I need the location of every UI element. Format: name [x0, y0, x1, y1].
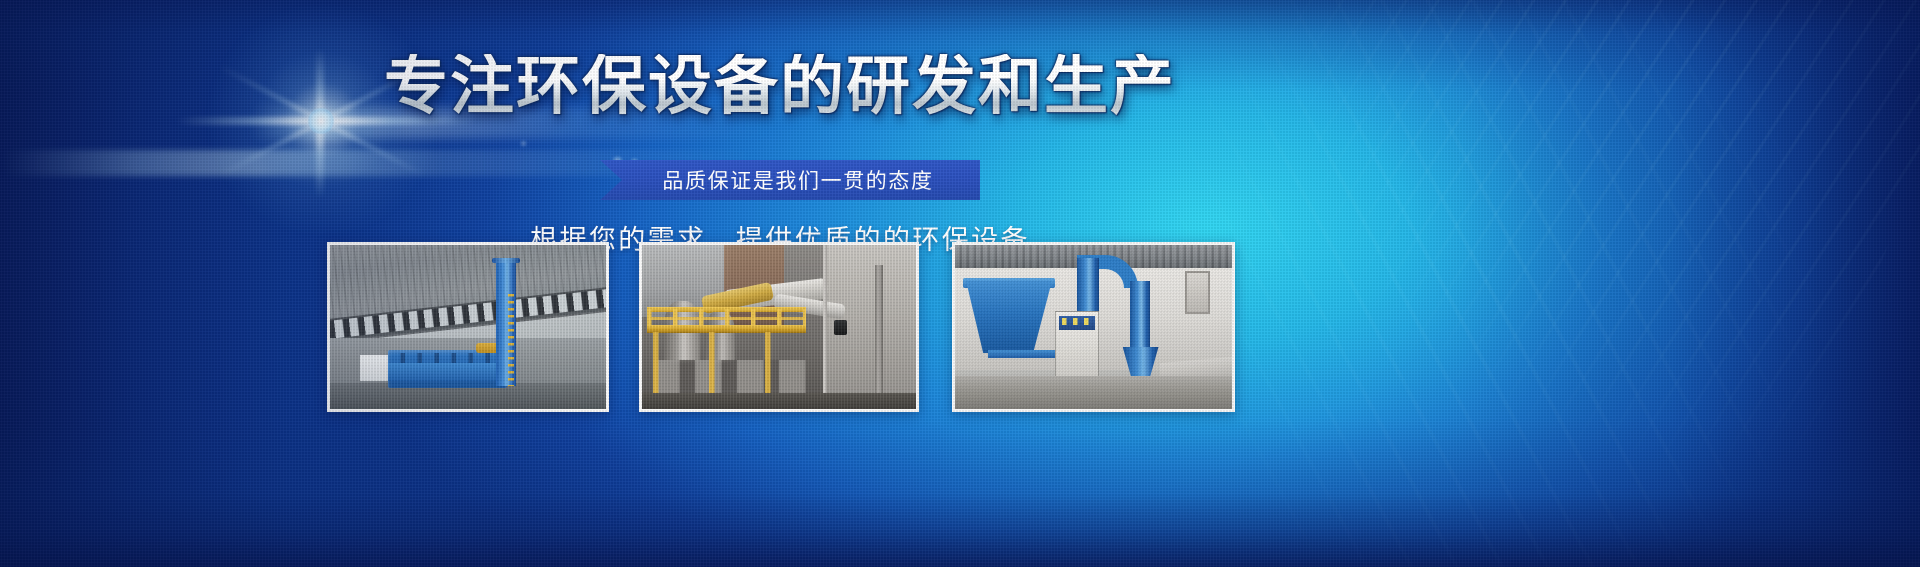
photo-image-factory-building — [330, 245, 606, 409]
banner-photo-cyclone-cabinet — [952, 242, 1235, 412]
banner-photo-workshop-equipment — [639, 242, 919, 412]
status-badge-label: 品质保证是我们一贯的态度 — [646, 165, 933, 195]
status-badge: 品质保证是我们一贯的态度 — [600, 160, 980, 200]
banner-photo-factory-building — [327, 242, 609, 412]
photo-image-cyclone-cabinet — [955, 245, 1232, 409]
photo-image-workshop-equipment — [642, 245, 916, 409]
banner-content: 专注环保设备的研发和生产 品质保证是我们一贯的态度 根据您的需求，提供优质的的环… — [0, 0, 1920, 567]
promo-banner: 专注环保设备的研发和生产 品质保证是我们一贯的态度 根据您的需求，提供优质的的环… — [0, 0, 1920, 567]
page-title: 专注环保设备的研发和生产 — [0, 54, 1560, 118]
